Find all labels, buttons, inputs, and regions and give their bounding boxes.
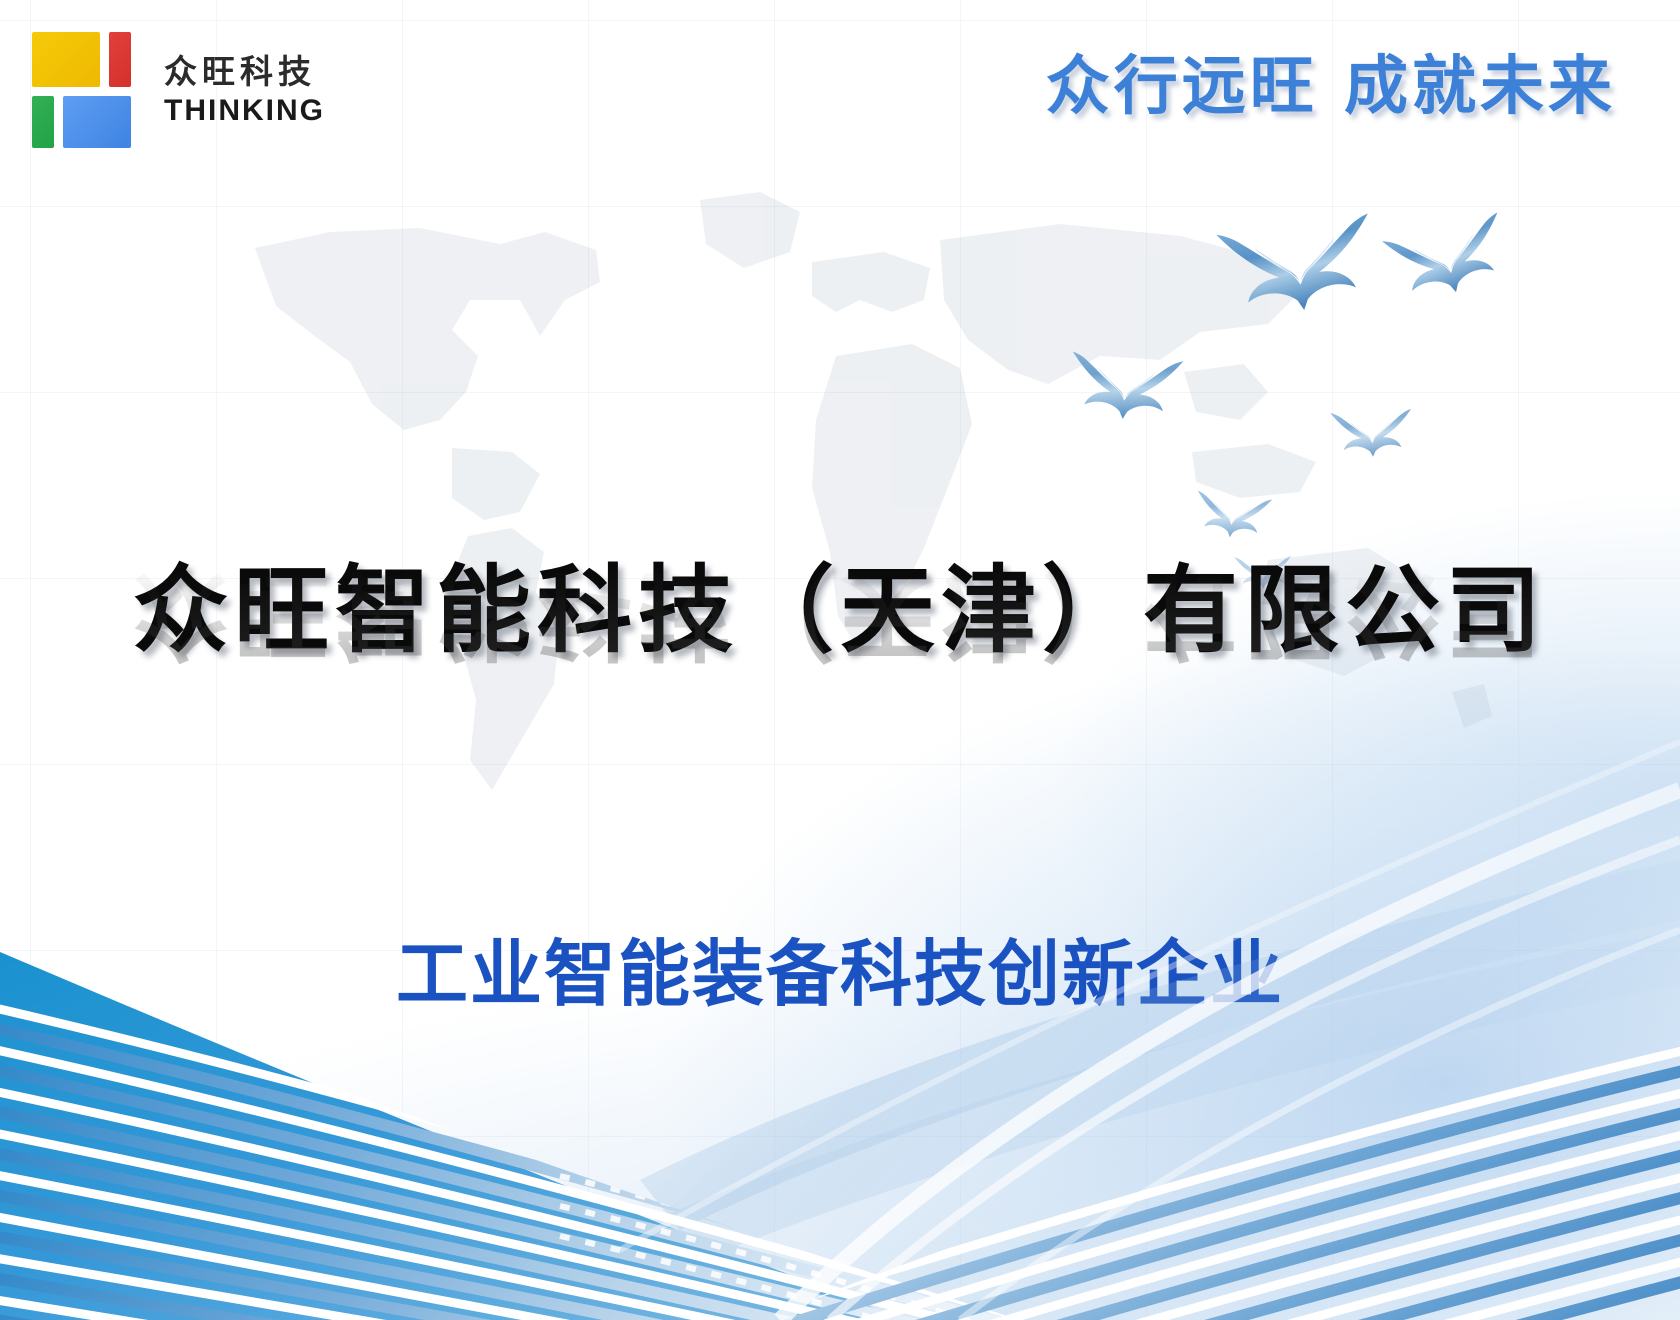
logo-mark xyxy=(32,32,142,148)
seagull-large-right xyxy=(1382,212,1514,306)
logo-wordmark: 众旺科技 THINKING xyxy=(164,55,325,126)
seagull-large-left xyxy=(1216,214,1380,321)
page-title: 众旺智能科技（天津）有限公司 xyxy=(0,560,1680,663)
seagull-small-left xyxy=(1193,490,1273,541)
logo-name-cn: 众旺科技 xyxy=(164,55,325,88)
page-subtitle: 工业智能装备科技创新企业 xyxy=(0,935,1680,1014)
yellow-square-icon xyxy=(32,32,100,87)
logo-name-en: THINKING xyxy=(164,96,325,126)
light-bands xyxy=(520,860,1680,1320)
red-square-icon xyxy=(109,32,131,87)
blue-square-icon xyxy=(63,96,131,148)
left-ribbon-stripes xyxy=(0,1000,1100,1320)
seagull-small-right xyxy=(1330,409,1413,459)
slide-header: 众旺科技 THINKING 众行远旺 成就未来 xyxy=(0,0,1680,190)
seagull-mid-left xyxy=(1067,352,1183,424)
company-logo[interactable]: 众旺科技 THINKING xyxy=(32,32,325,148)
title-section: 众旺智能科技（天津）有限公司 众旺智能科技（天津）有限公司 xyxy=(0,560,1680,767)
green-square-icon xyxy=(32,96,54,148)
presentation-slide: 众旺科技 THINKING 众行远旺 成就未来 众旺智能科技（天津）有限公司 众… xyxy=(0,0,1680,1320)
right-ribbon-stripes xyxy=(700,1042,1680,1320)
company-slogan: 众行远旺 成就未来 xyxy=(1046,52,1616,122)
white-swoosh-arcs xyxy=(620,742,1680,1320)
